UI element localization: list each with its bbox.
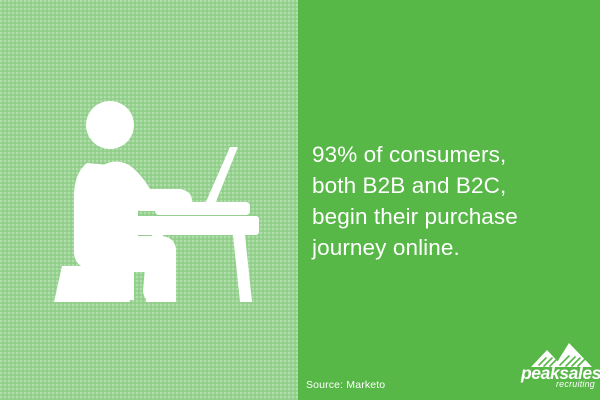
statistic-quote: 93% of consumers, both B2B and B2C, begi… [312, 139, 562, 263]
stool [54, 266, 130, 302]
quote-line-3: begin their purchase [312, 201, 562, 232]
quote-line-2: both B2B and B2C, [312, 170, 562, 201]
logo-subword: recruiting [521, 379, 595, 389]
source-label: Source: Marketo [306, 379, 385, 391]
laptop-screen [205, 147, 238, 204]
quote-line-1: 93% of consumers, [312, 139, 562, 170]
left-illustration-panel [0, 0, 298, 400]
infographic-canvas: 93% of consumers, both B2B and B2C, begi… [0, 0, 600, 400]
person-at-desk-illustration [0, 0, 298, 400]
peaksales-logo[interactable]: peaksales recruiting [521, 342, 595, 390]
figure-head [86, 101, 134, 149]
laptop-base [155, 202, 250, 215]
figure-lower-leg [143, 258, 176, 302]
desk-top [136, 216, 259, 235]
desk-leg-right [233, 235, 252, 302]
quote-line-4: journey online. [312, 232, 562, 263]
